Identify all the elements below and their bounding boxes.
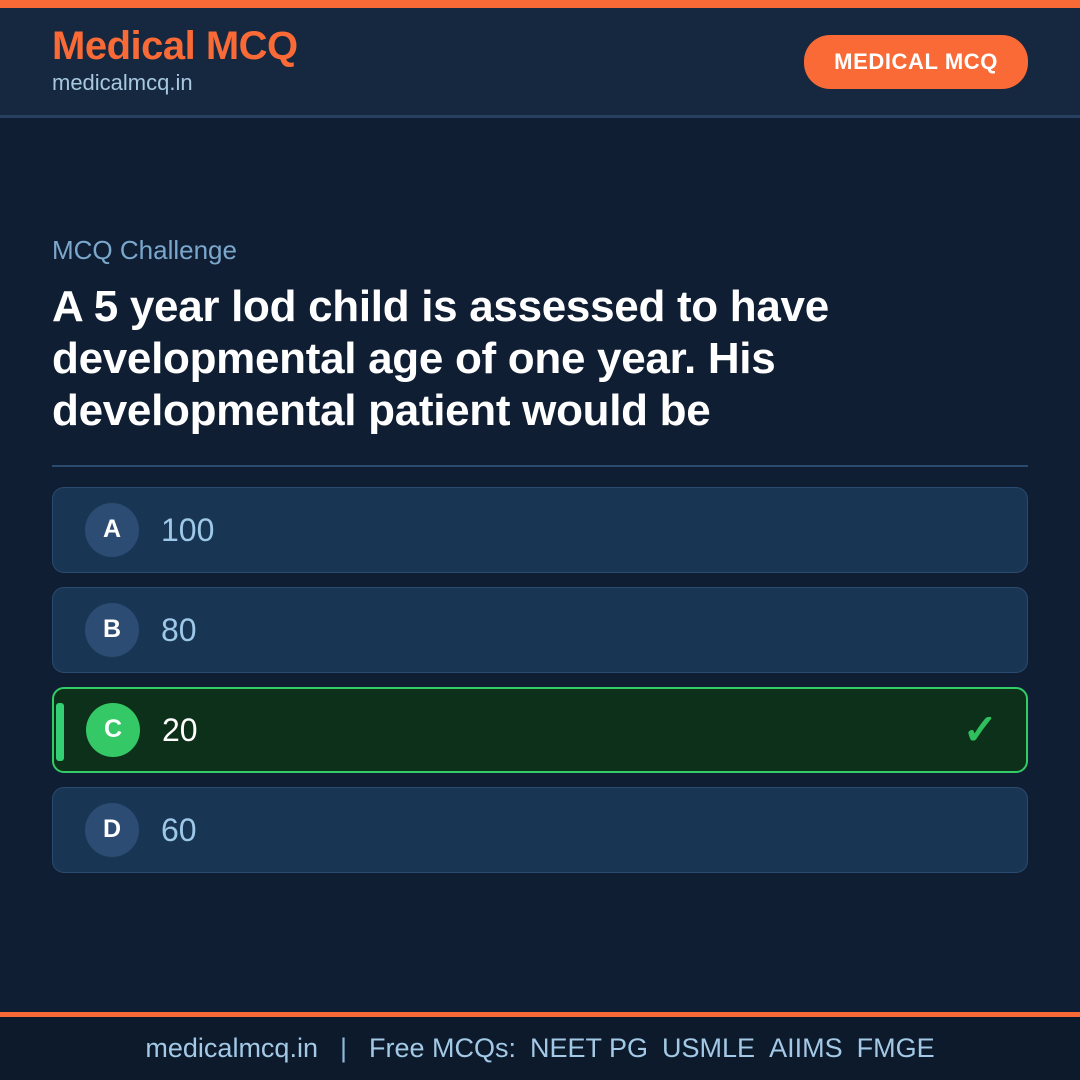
footer-exam-usmle[interactable]: USMLE xyxy=(662,1033,755,1063)
footer-exam-fmge[interactable]: FMGE xyxy=(857,1033,935,1063)
page-header: Medical MCQ medicalmcq.in MEDICAL MCQ xyxy=(0,8,1080,118)
footer-label: Free MCQs: xyxy=(369,1033,516,1064)
footer-exams: NEET PGUSMLEAIIMSFMGE xyxy=(530,1033,935,1064)
footer-exam-aiims[interactable]: AIIMS xyxy=(769,1033,843,1063)
option-row-c[interactable]: C20✓ xyxy=(52,687,1028,773)
options-list: A100✓B80✓C20✓D60✓ xyxy=(52,487,1028,873)
option-letter-badge: A xyxy=(85,503,139,557)
option-row-d[interactable]: D60✓ xyxy=(52,787,1028,873)
option-text: 80 xyxy=(161,614,197,646)
option-row-a[interactable]: A100✓ xyxy=(52,487,1028,573)
footer-site-link[interactable]: medicalmcq.in xyxy=(145,1033,318,1064)
brand-badge: MEDICAL MCQ xyxy=(804,35,1028,89)
correct-accent-bar xyxy=(56,703,64,761)
top-accent-bar xyxy=(0,0,1080,8)
footer-inner: medicalmcq.in | Free MCQs: NEET PGUSMLEA… xyxy=(145,1033,934,1064)
check-icon: ✓ xyxy=(963,709,998,751)
option-letter-badge: B xyxy=(85,603,139,657)
question-text: A 5 year lod child is assessed to have d… xyxy=(52,281,1028,437)
brand-block: Medical MCQ medicalmcq.in xyxy=(52,25,298,98)
option-text: 20 xyxy=(162,714,198,746)
page-footer: medicalmcq.in | Free MCQs: NEET PGUSMLEA… xyxy=(0,1012,1080,1080)
option-text: 100 xyxy=(161,514,214,546)
brand-title: Medical MCQ xyxy=(52,25,298,67)
footer-exam-neet-pg[interactable]: NEET PG xyxy=(530,1033,648,1063)
option-letter-badge: C xyxy=(86,703,140,757)
main-content: MCQ Challenge A 5 year lod child is asse… xyxy=(0,121,1080,1009)
challenge-label: MCQ Challenge xyxy=(52,237,1028,263)
option-text: 60 xyxy=(161,814,197,846)
footer-separator: | xyxy=(340,1033,347,1064)
option-letter-badge: D xyxy=(85,803,139,857)
option-row-b[interactable]: B80✓ xyxy=(52,587,1028,673)
question-divider xyxy=(52,465,1028,467)
brand-domain: medicalmcq.in xyxy=(52,69,298,98)
